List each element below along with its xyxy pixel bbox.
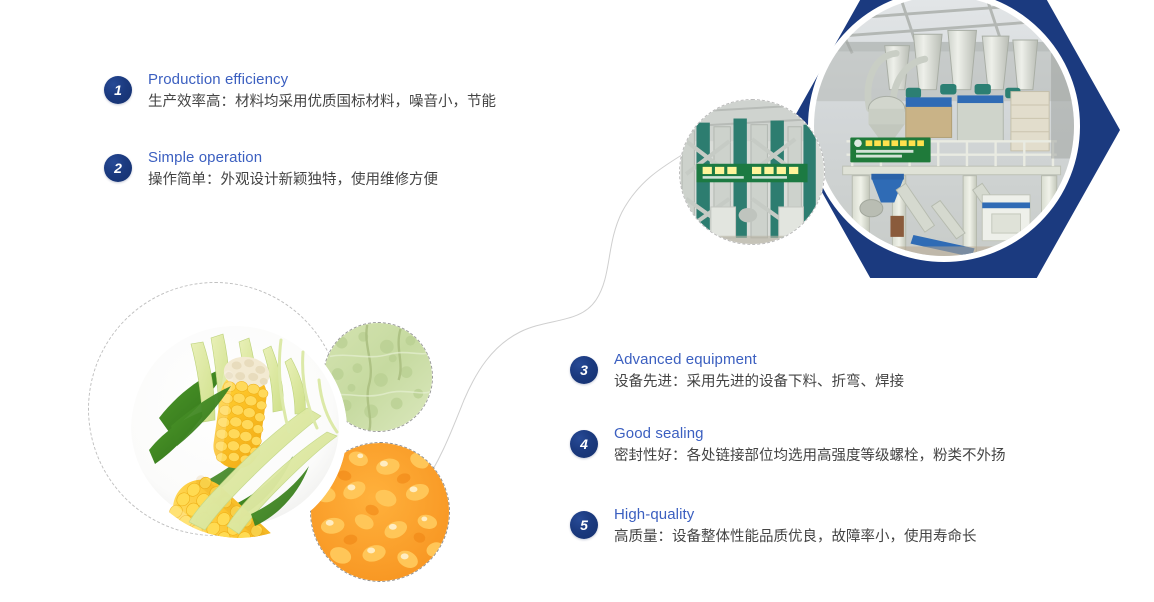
feature-description: 设备先进：采用先进的设备下料、折弯、焊接 xyxy=(614,371,904,393)
feature-title: High-quality xyxy=(614,505,977,525)
feature-title: Advanced equipment xyxy=(614,350,904,370)
feature-number-badge: 5 xyxy=(570,511,598,539)
feature-text: Simple operation 操作简单：外观设计新颖独特，使用维修方便 xyxy=(148,148,438,191)
feature-text: Advanced equipment 设备先进：采用先进的设备下料、折弯、焊接 xyxy=(614,350,904,393)
fresh-corn-cob-photo xyxy=(131,322,347,538)
feature-item-5[interactable]: 5 High-quality 高质量：设备整体性能品质优良，故障率小，使用寿命长 xyxy=(570,505,977,548)
feature-text: Production efficiency 生产效率高：材料均采用优质国标材料，… xyxy=(148,70,496,113)
feature-item-1[interactable]: 1 Production efficiency 生产效率高：材料均采用优质国标材… xyxy=(104,70,496,113)
feature-number-badge: 1 xyxy=(104,76,132,104)
feature-title: Production efficiency xyxy=(148,70,496,90)
feature-text: Good sealing 密封性好：各处链接部位均选用高强度等级螺栓，粉类不外扬 xyxy=(614,424,1006,467)
feature-number-badge: 3 xyxy=(570,356,598,384)
machinery-image-cluster xyxy=(660,0,1080,282)
feature-number-badge: 2 xyxy=(104,154,132,182)
feature-number-badge: 4 xyxy=(570,430,598,458)
feature-description: 操作简单：外观设计新颖独特，使用维修方便 xyxy=(148,169,438,191)
feature-item-2[interactable]: 2 Simple operation 操作简单：外观设计新颖独特，使用维修方便 xyxy=(104,148,438,191)
page-root: 1 Production efficiency 生产效率高：材料均采用优质国标材… xyxy=(0,0,1154,591)
green-milling-machine-photo xyxy=(679,99,825,245)
feature-description: 生产效率高：材料均采用优质国标材料，噪音小，节能 xyxy=(148,91,496,113)
feature-description: 密封性好：各处链接部位均选用高强度等级螺栓，粉类不外扬 xyxy=(614,445,1006,467)
feature-item-4[interactable]: 4 Good sealing 密封性好：各处链接部位均选用高强度等级螺栓，粉类不… xyxy=(570,424,1006,467)
feature-title: Good sealing xyxy=(614,424,1006,444)
feature-title: Simple operation xyxy=(148,148,438,168)
feature-text: High-quality 高质量：设备整体性能品质优良，故障率小，使用寿命长 xyxy=(614,505,977,548)
feature-item-3[interactable]: 3 Advanced equipment 设备先进：采用先进的设备下料、折弯、焊… xyxy=(570,350,904,393)
corn-image-cluster xyxy=(88,282,488,602)
flour-milling-plant-photo xyxy=(808,0,1080,262)
feature-description: 高质量：设备整体性能品质优良，故障率小，使用寿命长 xyxy=(614,526,977,548)
